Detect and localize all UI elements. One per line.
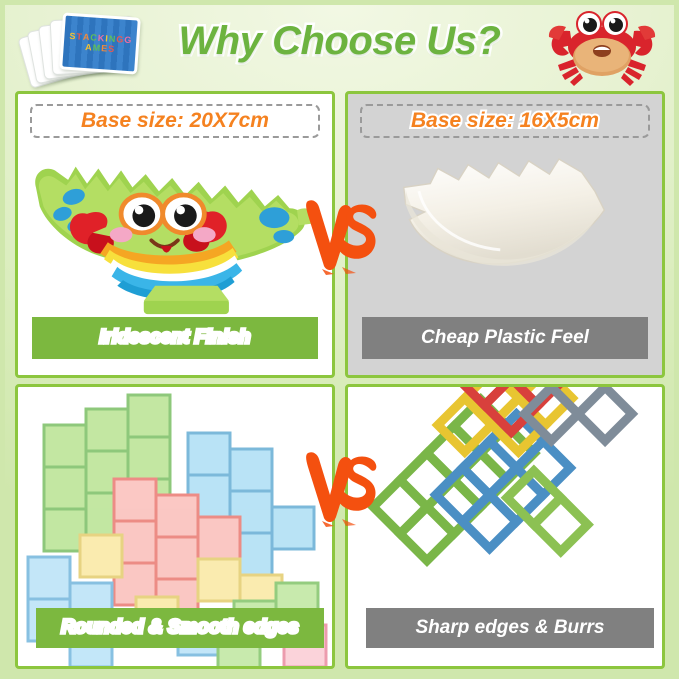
plain-white-plastic-base: [348, 142, 662, 317]
label-bar-cheap-plastic-feel: Cheap Plastic Feel: [362, 317, 648, 359]
label-bar-rounded-smooth-edges: Rounded & Smooth edges: [36, 608, 324, 648]
header: STACKING GAMES Why Choose Us?: [5, 5, 674, 89]
size-badge-text: Base size: 20X7cm: [81, 109, 269, 133]
size-badge-theirs-top: Base size: 16X5cm: [360, 104, 650, 138]
size-badge-text: Base size: 16X5cm: [411, 109, 599, 133]
panel-bottom-right: Sharp edges & Burrs: [345, 384, 665, 669]
crab-mascot-icon: [536, 9, 668, 87]
panel-top-left: Base size: 20X7cm: [15, 91, 335, 378]
panel-top-right: Base size: 16X5cm Cheap Plastic Feel: [345, 91, 665, 378]
label-bar-iridescent-finish: Iridescent Finish: [32, 317, 318, 359]
panel-bottom-left: Rounded & Smooth edges: [15, 384, 335, 669]
infographic-page: STACKING GAMES Why Choose Us?: [0, 0, 679, 679]
green-crocodile-balance-base: [18, 142, 332, 317]
size-badge-ours-top: Base size: 20X7cm: [30, 104, 320, 138]
label-text: Cheap Plastic Feel: [421, 327, 589, 349]
label-text: Iridescent Finish: [100, 327, 251, 349]
label-bar-sharp-edges-burrs: Sharp edges & Burrs: [366, 608, 654, 648]
label-text: Rounded & Smooth edges: [61, 617, 299, 639]
label-text: Sharp edges & Burrs: [416, 617, 605, 639]
